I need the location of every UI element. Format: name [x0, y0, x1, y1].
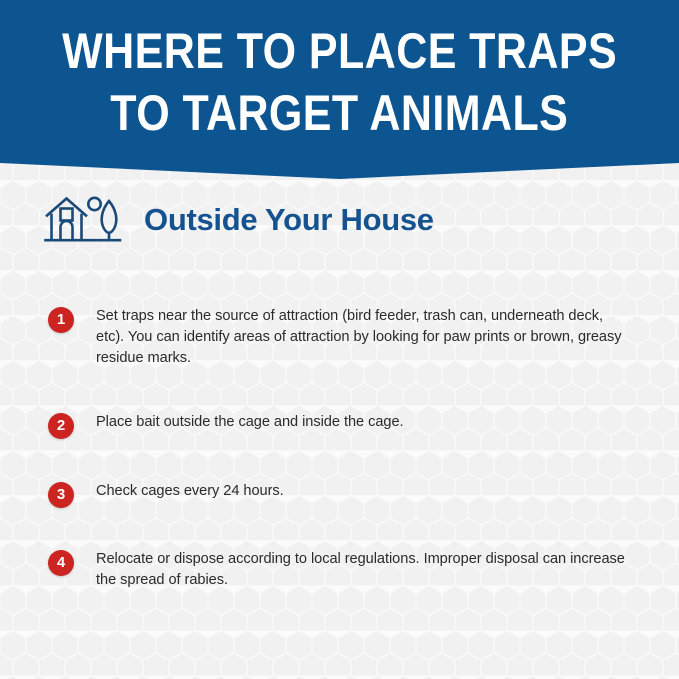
- header-banner: WHERE TO PLACE TRAPS TO TARGET ANIMALS: [0, 0, 679, 180]
- infographic-poster: WHERE TO PLACE TRAPS TO TARGET ANIMALS: [0, 0, 679, 679]
- section-outside-your-house: Outside Your House 1 Set traps near the …: [0, 180, 679, 591]
- section-title: Outside Your House: [144, 202, 434, 238]
- step-number-badge: 3: [48, 482, 74, 508]
- section-header: Outside Your House: [0, 180, 679, 260]
- step-text: Check cages every 24 hours.: [96, 481, 284, 502]
- step-number-badge: 1: [48, 307, 74, 333]
- step-number-badge: 2: [48, 413, 74, 439]
- list-item: 2 Place bait outside the cage and inside…: [0, 412, 679, 439]
- step-text: Set traps near the source of attraction …: [96, 306, 627, 369]
- list-item: 3 Check cages every 24 hours.: [0, 481, 679, 508]
- step-text: Relocate or dispose according to local r…: [96, 549, 627, 591]
- list-item: 4 Relocate or dispose according to local…: [0, 549, 679, 591]
- house-tree-sun-icon: [44, 192, 122, 248]
- list-item: 1 Set traps near the source of attractio…: [0, 306, 679, 369]
- steps-list: 1 Set traps near the source of attractio…: [0, 306, 679, 591]
- step-text: Place bait outside the cage and inside t…: [96, 412, 404, 433]
- step-number-badge: 4: [48, 550, 74, 576]
